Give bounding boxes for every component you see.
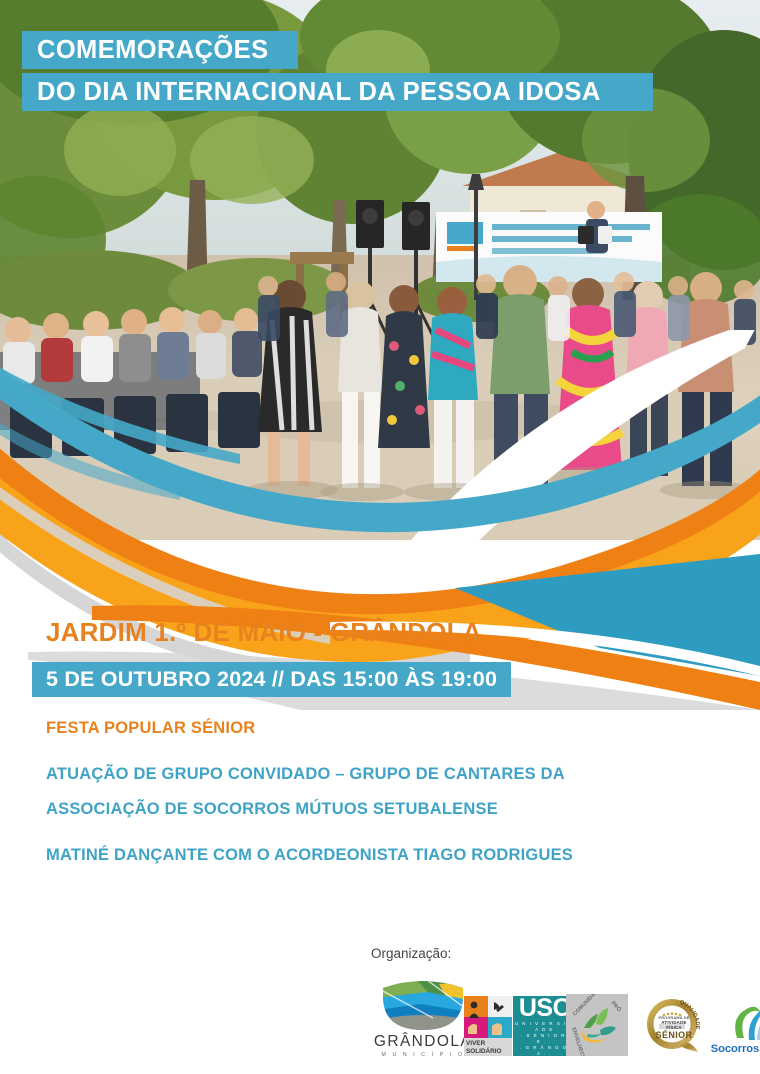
svg-text:PRÓ: PRÓ [610, 999, 624, 1013]
venue-heading: JARDIM 1.º DE MAIO - GRÂNDOLA [46, 617, 482, 648]
viver-solidario-label: VIVER SOLIDÁRIO [466, 1040, 512, 1055]
logo-comunidades-pro-envelhecimento: COMUNIDADES PRÓ ENVELHECIMENTO [566, 994, 628, 1056]
grandola-wordmark: GRÂNDOLA [373, 1033, 473, 1051]
organizer-logo-row: GRÂNDOLA M U N I C Í P I O [370, 973, 760, 1058]
qualidade-line-3: SÉNIOR [653, 1030, 695, 1040]
grandola-landscape-icon [377, 978, 469, 1032]
organization-label: Organização: [371, 946, 451, 961]
logo-qualidade-programa-senior: QUALIDADE PROGRAMA DE ATIVIDADE FÍSICA S… [638, 992, 706, 1058]
program-item-festa: FESTA POPULAR SÉNIOR [46, 719, 255, 738]
date-time-badge: 5 DE OUTUBRO 2024 // DAS 15:00 ÀS 19:00 [32, 662, 511, 697]
socorros-mutuos-wordmark: Socorros Mútuos [708, 1043, 760, 1055]
viver-line-1: VIVER [466, 1040, 512, 1047]
logo-grandola-municipio: GRÂNDOLA M U N I C Í P I O [373, 978, 473, 1058]
program-item-atuacao-line-1: ATUAÇÃO DE GRUPO CONVIDADO – GRUPO DE CA… [46, 765, 565, 784]
viver-line-2: SOLIDÁRIO [466, 1048, 512, 1055]
program-item-matine: MATINÉ DANÇANTE COM O ACORDEONISTA TIAGO… [46, 846, 573, 865]
socorros-mutuos-swan-icon [727, 1000, 760, 1042]
qualidade-seal-text: PROGRAMA DE ATIVIDADE FÍSICA SÉNIOR [653, 1016, 695, 1040]
qualidade-line-2: ATIVIDADE FÍSICA [653, 1020, 695, 1030]
logo-usc-viver-solidario: VIVER SOLIDÁRIO USC U N I V E R S I D A … [464, 996, 576, 1056]
usc-acronym: USC [519, 996, 570, 1021]
grandola-subtitle: M U N I C Í P I O [373, 1052, 473, 1058]
comunidades-leaf-hand-icon: COMUNIDADES PRÓ ENVELHECIMENTO [566, 994, 628, 1056]
poster-title-line-2: DO DIA INTERNACIONAL DA PESSOA IDOSA [22, 73, 653, 111]
poster-canvas: COMEMORAÇÕES DO DIA INTERNACIONAL DA PES… [0, 0, 760, 1074]
viver-solidario-block: VIVER SOLIDÁRIO [464, 996, 512, 1056]
usc-hands-people-icon [466, 998, 510, 1038]
program-item-atuacao-line-2: ASSOCIAÇÃO DE SOCORROS MÚTUOS SETUBALENS… [46, 800, 498, 819]
logo-socorros-mutuos: Socorros Mútuos [708, 1000, 760, 1055]
poster-title-line-1: COMEMORAÇÕES [22, 31, 298, 69]
